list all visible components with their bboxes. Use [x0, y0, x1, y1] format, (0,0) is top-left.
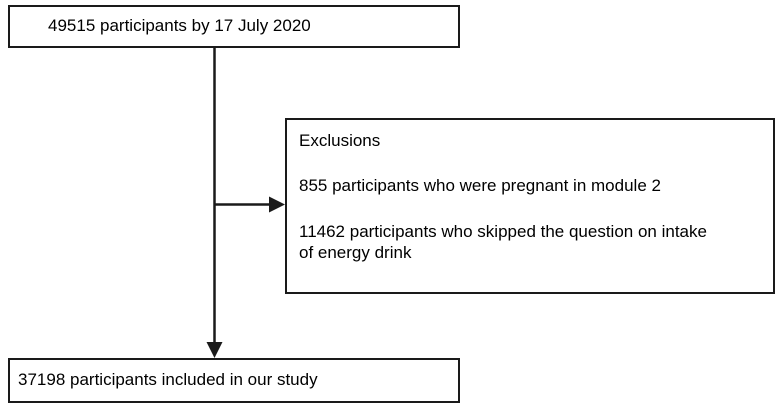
exclusion-item-skipped-question: 11462 participants who skipped the quest… — [299, 221, 719, 263]
flowchart-canvas: 49515 participants by 17 July 2020 Exclu… — [0, 0, 780, 408]
node-exclusions-heading: Exclusions — [299, 130, 380, 151]
node-enrollment-label: 49515 participants by 17 July 2020 — [48, 15, 311, 36]
node-included-label: 37198 participants included in our study — [18, 369, 318, 390]
connector-enrollment-to-exclusions-arrowhead — [269, 197, 285, 213]
exclusion-item-pregnant: 855 participants who were pregnant in mo… — [299, 175, 661, 196]
connector-enrollment-to-included-arrowhead — [207, 342, 223, 358]
